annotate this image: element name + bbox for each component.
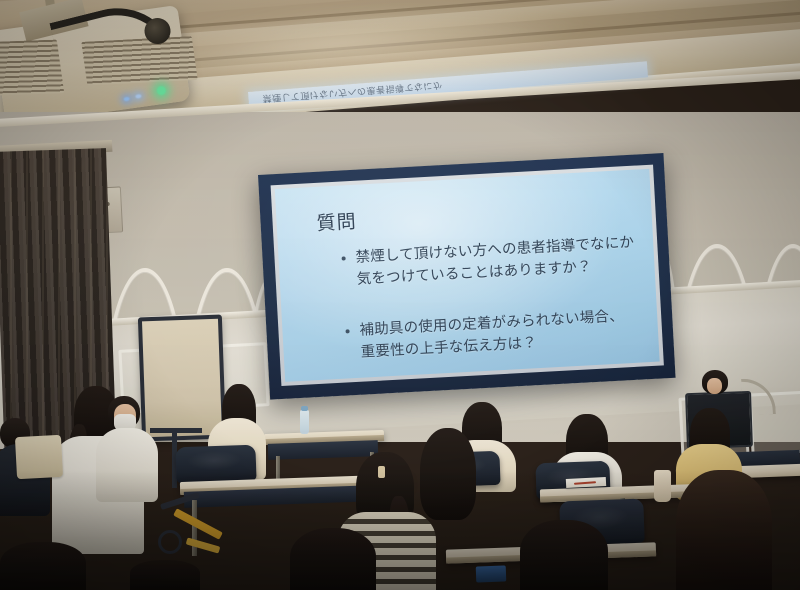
projection-screen-surface: 質問 禁煙して頂けない方への患者指導でなにか 気をつけていることはありますか？ … <box>275 169 660 382</box>
chair-sheen <box>187 450 242 471</box>
person-torso <box>96 428 158 502</box>
projector-vent <box>81 36 197 85</box>
table-modesty-panel <box>268 440 378 460</box>
projector-indicator-green-icon <box>156 85 166 95</box>
seminar-room-photo: 禁煙して頂けない方への患者指導でなにか 質 <box>0 0 800 590</box>
person-hair <box>676 470 772 590</box>
whiteboard-tray <box>150 428 202 433</box>
bicycle-wheel <box>158 530 182 554</box>
pencil-case[interactable] <box>476 565 507 582</box>
person-hair <box>0 542 86 590</box>
person-hair <box>520 520 608 590</box>
person-hair <box>130 560 200 590</box>
bottle-cap <box>301 406 308 411</box>
bicycle-frame <box>186 537 221 553</box>
projector-vent <box>0 40 64 96</box>
person-face <box>707 378 722 394</box>
projection-screen-border: 質問 禁煙して頂けない方への患者指導でなにか 気をつけていることはありますか？ … <box>271 165 664 386</box>
chair-back[interactable] <box>175 445 256 484</box>
slide-bullet: 禁煙して頂けない方への患者指導でなにか 気をつけていることはありますか？ <box>340 232 637 293</box>
slide-title: 質問 <box>316 207 357 236</box>
projection-screen-frame: 質問 禁煙して頂けない方への患者指導でなにか 気をつけていることはありますか？ … <box>258 153 676 400</box>
hair-clip <box>378 466 385 478</box>
bicycle-frame <box>173 508 223 539</box>
projector-indicator-blue-icon <box>123 97 129 102</box>
slide-bullet-list: 禁煙して頂けない方への患者指導でなにか 気をつけていることはありますか？ 補助具… <box>340 232 642 382</box>
person-hair <box>290 528 376 590</box>
projector-indicator-blue-icon <box>135 94 141 99</box>
whiteboard[interactable] <box>138 315 226 442</box>
paper-cup[interactable] <box>654 470 671 502</box>
handbag[interactable] <box>15 435 63 479</box>
person-hair <box>420 428 476 520</box>
water-bottle[interactable] <box>300 410 309 434</box>
slide-bullet: 補助具の使用の定着がみられない場合、 重要性の上手な伝え方は？ <box>344 305 641 366</box>
